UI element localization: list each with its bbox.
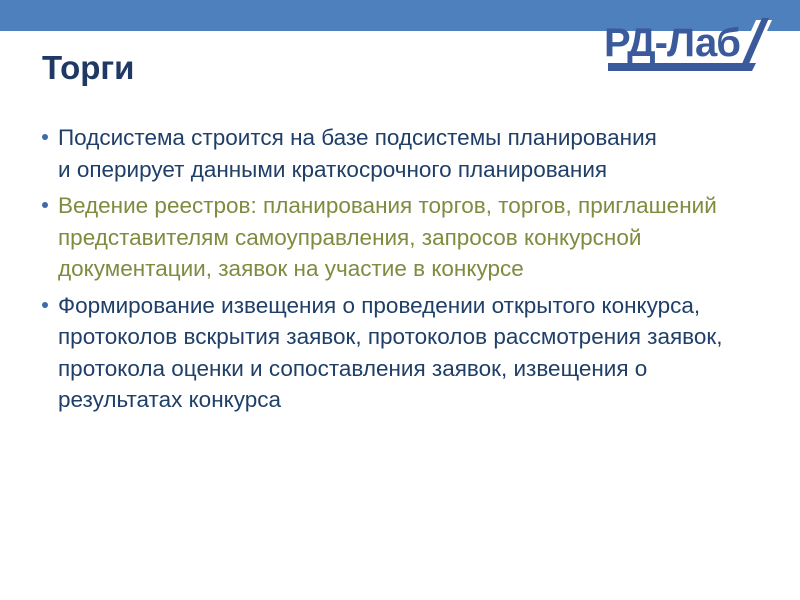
list-item: Формирование извещения о проведении откр… xyxy=(38,290,762,416)
list-item: Ведение реестров: планирования торгов, т… xyxy=(38,190,762,285)
list-item-text: Подсистема строится на базе подсистемы п… xyxy=(58,122,672,185)
svg-text:РД-Лаб: РД-Лаб xyxy=(604,21,740,65)
list-item: Подсистема строится на базе подсистемы п… xyxy=(38,122,762,185)
slide-body: Подсистема строится на базе подсистемы п… xyxy=(38,122,762,420)
rd-lab-logo-graphic: РД-Лаб xyxy=(602,14,792,76)
bullet-dot-icon xyxy=(38,190,58,208)
bullet-dot-icon xyxy=(38,122,58,140)
presentation-slide: РД-Лаб Торги Подсистема строится на базе… xyxy=(0,0,800,600)
page-title: Торги xyxy=(42,48,602,88)
bullet-dot-icon xyxy=(38,290,58,308)
list-item-text: Ведение реестров: планирования торгов, т… xyxy=(58,190,762,285)
rd-lab-logo: РД-Лаб xyxy=(602,14,792,76)
list-item-text: Формирование извещения о проведении откр… xyxy=(58,290,726,416)
